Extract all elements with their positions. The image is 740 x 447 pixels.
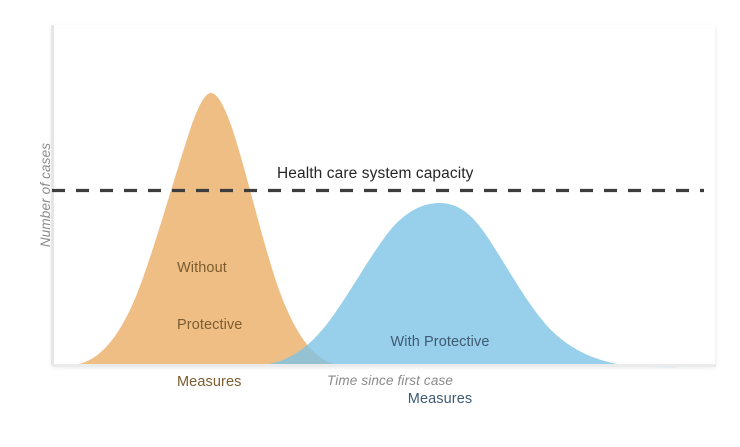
curve-label-line-2: Protective xyxy=(177,316,242,335)
curve-label-line-3: Measures xyxy=(177,373,242,392)
capacity-line-label: Health care system capacity xyxy=(277,165,474,183)
curve-label-line-2: Measures xyxy=(340,390,540,409)
flatten-the-curve-chart: Number of cases Time since first case He… xyxy=(0,0,740,416)
curve-label-line-1: Without xyxy=(177,259,242,278)
y-axis-label: Number of cases xyxy=(38,45,53,345)
curve-label-with-protective-measures: With Protective Measures xyxy=(340,295,540,447)
curve-label-line-1: With Protective xyxy=(340,333,540,352)
curve-label-without-protective-measures: Without Protective Measures xyxy=(177,221,242,430)
